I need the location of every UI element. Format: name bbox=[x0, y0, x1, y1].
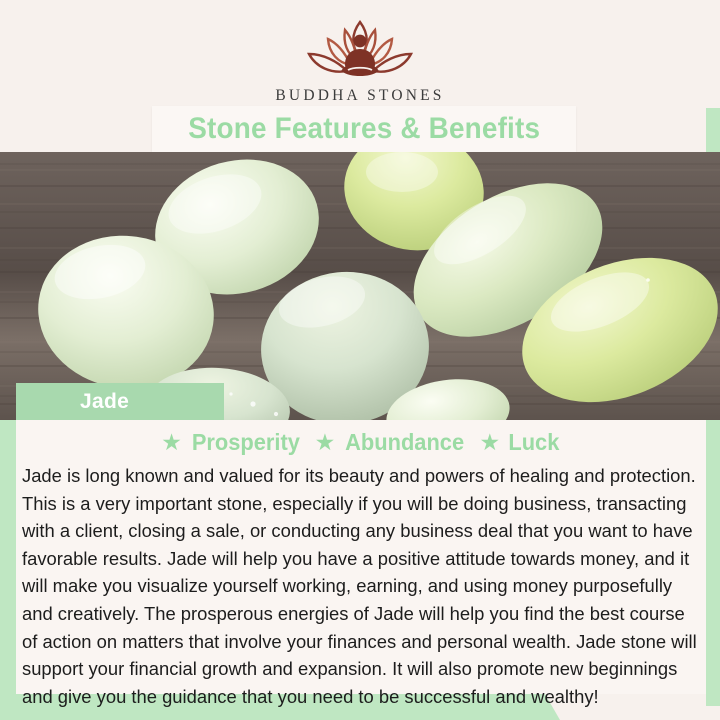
stone-photo bbox=[0, 152, 720, 420]
lotus-meditation-icon bbox=[285, 14, 435, 86]
stone-photo-image bbox=[0, 152, 720, 420]
keyword-list: ★ Prosperity ★ Abundance ★ Luck bbox=[16, 420, 706, 460]
keyword-item-prosperity: ★ Prosperity bbox=[161, 429, 302, 456]
star-icon: ★ bbox=[161, 431, 182, 454]
brand-name: BUDDHA STONES bbox=[0, 87, 720, 105]
page-title: Stone Features & Benefits bbox=[188, 112, 540, 146]
brand-header: BUDDHA STONES bbox=[0, 0, 720, 108]
keyword-label: Prosperity bbox=[192, 429, 300, 456]
keyword-label: Abundance bbox=[345, 429, 464, 456]
description-panel: ★ Prosperity ★ Abundance ★ Luck Jade is … bbox=[16, 420, 706, 694]
star-icon: ★ bbox=[479, 431, 500, 454]
star-icon: ★ bbox=[315, 431, 336, 454]
stone-name: Jade bbox=[80, 390, 129, 414]
stone-name-banner: Jade bbox=[16, 383, 224, 420]
section-title-band: Stone Features & Benefits bbox=[152, 106, 576, 152]
keyword-item-luck: ★ Luck bbox=[479, 429, 560, 456]
stone-description: Jade is long known and valued for its be… bbox=[16, 460, 706, 710]
brand-logo: BUDDHA STONES bbox=[0, 14, 720, 105]
keyword-label: Luck bbox=[508, 429, 559, 456]
stone-info-card: BUDDHA STONES Stone Features & Benefits bbox=[0, 0, 720, 720]
keyword-item-abundance: ★ Abundance bbox=[315, 429, 468, 456]
